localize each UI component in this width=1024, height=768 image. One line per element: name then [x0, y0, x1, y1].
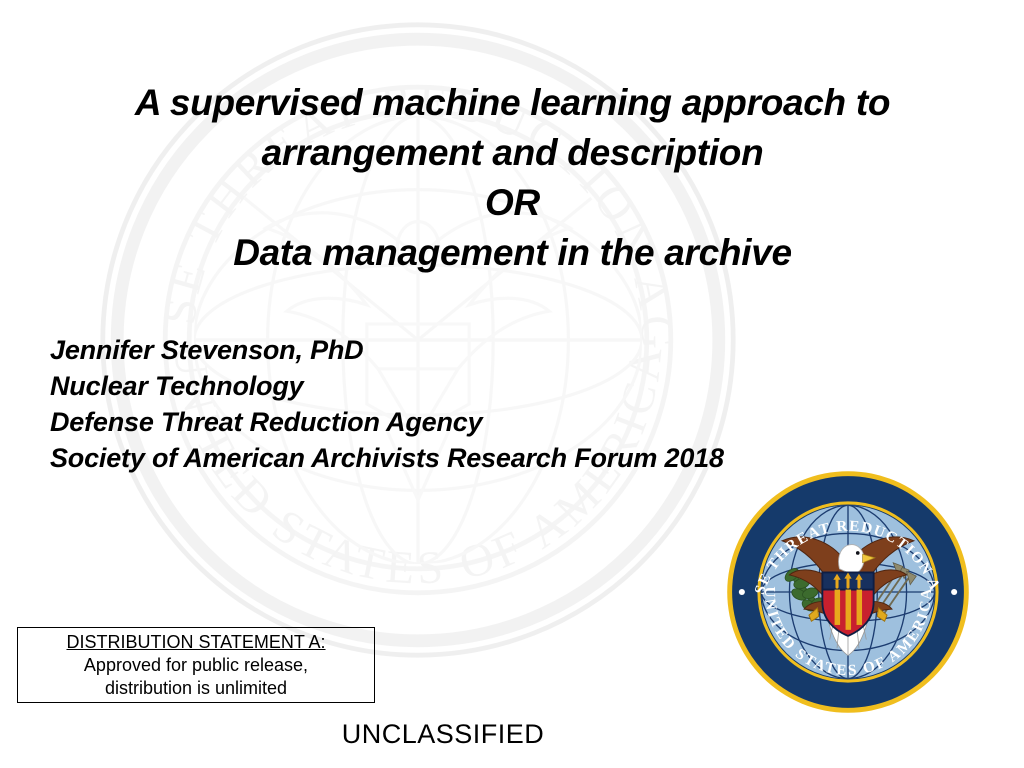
distribution-heading: DISTRIBUTION STATEMENT A:	[66, 631, 325, 654]
author-block: Jennifer Stevenson, PhD Nuclear Technolo…	[50, 332, 840, 476]
title-line-1: A supervised machine learning approach t…	[90, 78, 935, 128]
distribution-statement-box: DISTRIBUTION STATEMENT A: Approved for p…	[17, 627, 375, 703]
author-venue: Society of American Archivists Research …	[50, 440, 840, 476]
author-name: Jennifer Stevenson, PhD	[50, 332, 840, 368]
classification-footer: UNCLASSIFIED	[0, 719, 1024, 750]
dtra-seal-icon: DEFENSE THREAT REDUCTION AGENCY UNITED S…	[726, 470, 970, 714]
distribution-line-2: Approved for public release,	[84, 654, 308, 677]
title-line-2: arrangement and description	[90, 128, 935, 178]
author-organization: Defense Threat Reduction Agency	[50, 404, 840, 440]
page-title: A supervised machine learning approach t…	[90, 78, 935, 278]
author-division: Nuclear Technology	[50, 368, 840, 404]
title-line-3: OR	[90, 178, 935, 228]
distribution-line-3: distribution is unlimited	[105, 677, 287, 700]
slide-canvas: DEFENSE THREAT REDUCTION AGENCY UNITED S…	[0, 0, 1024, 768]
title-line-4: Data management in the archive	[90, 228, 935, 278]
classification-label: UNCLASSIFIED	[342, 719, 545, 749]
